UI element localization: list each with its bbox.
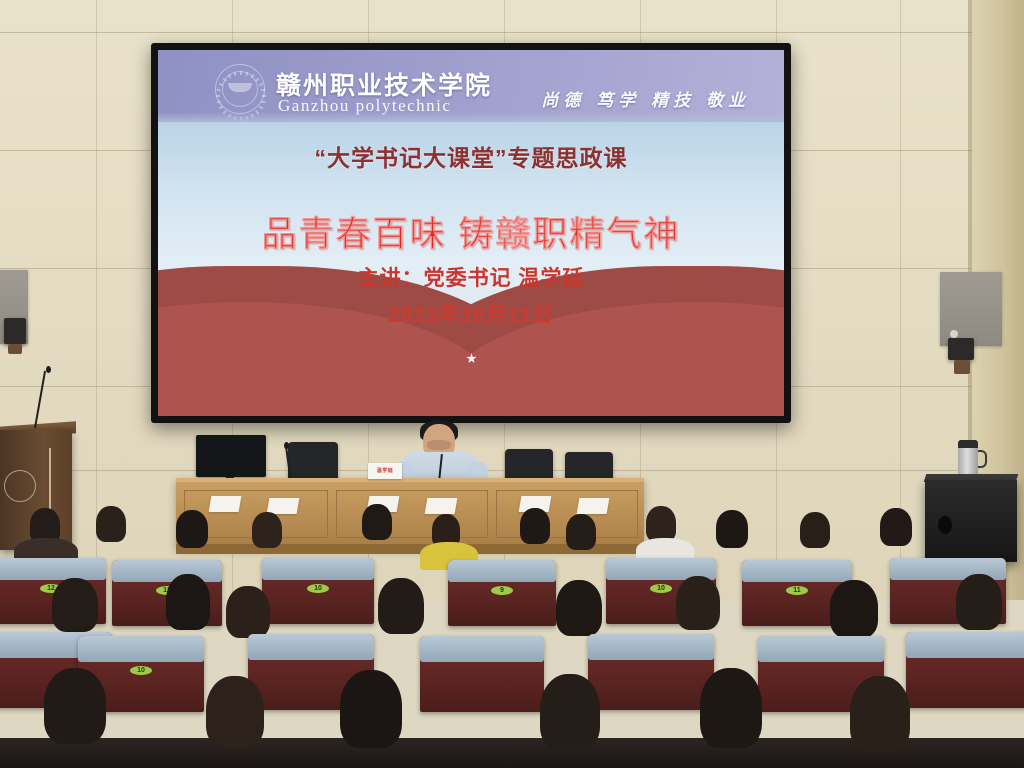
projection-screen-bezel: 赣州职业技术学院 Ganzhou polytechnic 尚德 笃学 精技 敬业… [151, 43, 791, 423]
seat-number: 10 [130, 666, 152, 675]
audience-head [540, 674, 600, 750]
seat: 9 [448, 560, 556, 626]
audience-head [252, 512, 282, 548]
presenter-name-card: 温学延 [368, 463, 402, 479]
seat [420, 636, 544, 712]
seat-number: 9 [491, 586, 513, 595]
audience-head [176, 510, 208, 548]
seat [906, 632, 1024, 708]
slide-date: 2023年10月11日 [158, 299, 784, 329]
audience-head [166, 574, 210, 630]
audience-head [226, 586, 270, 638]
thermos-lid [958, 440, 978, 448]
name-card-text: 温学延 [368, 467, 402, 474]
seat-number: 10 [307, 584, 329, 593]
audience-head [378, 578, 424, 634]
school-motto: 尚德 笃学 精技 敬业 [541, 86, 750, 111]
seat-number: 10 [650, 584, 672, 593]
wall-device-left [4, 318, 26, 344]
audience-head [340, 670, 402, 748]
audience-head [646, 506, 676, 542]
school-emblem-icon [215, 64, 265, 114]
wall-device-left-base [8, 344, 22, 354]
wall-device-right-base [954, 360, 970, 374]
audience-head [880, 508, 912, 546]
desk-monitor [196, 435, 266, 477]
lectern-microphone-head [46, 366, 51, 373]
lecture-hall-photo: 赣州职业技术学院 Ganzhou polytechnic 尚德 笃学 精技 敬业… [0, 0, 1024, 768]
slide-subtitle: “大学书记大课堂”专题思政课 [158, 139, 784, 173]
presenter-face-shadow [427, 440, 451, 450]
seat-number: 11 [786, 586, 808, 595]
projection-screen: 赣州职业技术学院 Ganzhou polytechnic 尚德 笃学 精技 敬业… [158, 50, 784, 416]
wall-device-indicator [950, 330, 958, 338]
wall-device-right [948, 338, 974, 360]
audience-head [566, 514, 596, 550]
audience-head [716, 510, 748, 548]
slide-presenter: 主讲：党委书记 温学延 [158, 262, 784, 292]
audience-head [700, 668, 762, 748]
audience-head [830, 580, 878, 638]
audience-head [556, 580, 602, 636]
audience-area: 12 12 10 9 10 11 [0, 500, 1024, 768]
audience-head [44, 668, 106, 744]
audience-head [800, 512, 830, 548]
seat [588, 634, 714, 710]
school-name-en: Ganzhou polytechnic [278, 96, 451, 116]
audience-head [520, 508, 550, 544]
audience-head [362, 504, 392, 540]
audience-head [676, 576, 720, 630]
audience-head [96, 506, 126, 542]
audience-head [52, 578, 98, 632]
audience-head [850, 676, 910, 752]
audience-head [956, 574, 1002, 630]
chair-left-1 [288, 442, 338, 482]
slide-main-title: 品青春百味 铸赣职精气神 [158, 206, 784, 257]
audience-head [206, 676, 264, 748]
table-microphone-head [284, 442, 289, 449]
seat: 10 [262, 558, 374, 624]
slide-header-band: 赣州职业技术学院 Ganzhou polytechnic 尚德 笃学 精技 敬业 [158, 50, 784, 122]
lectern-emblem-icon [4, 470, 36, 502]
